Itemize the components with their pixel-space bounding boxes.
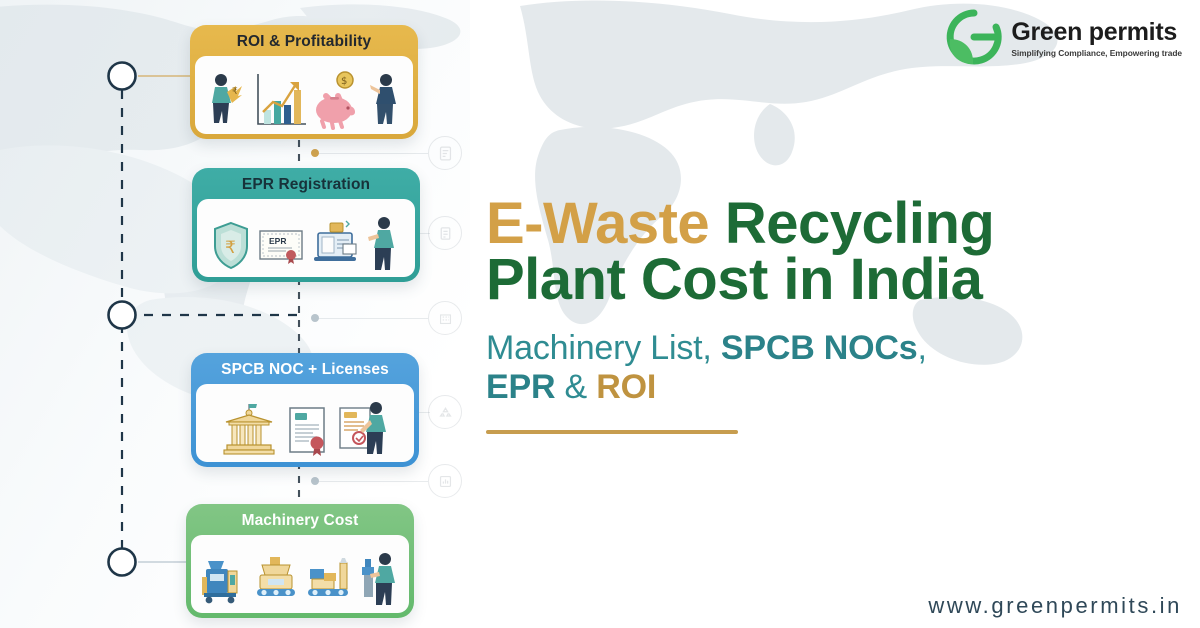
factory-grid-icon xyxy=(428,301,462,335)
svg-text:₹: ₹ xyxy=(232,87,238,97)
headline-gold-part: E-Waste xyxy=(486,191,709,256)
subtitle-ampersand: & xyxy=(555,368,596,406)
website-url[interactable]: www.greenpermits.in xyxy=(928,593,1182,619)
card-spcb-title: SPCB NOC + Licenses xyxy=(196,358,414,384)
subtitle-bold-roi: ROI xyxy=(596,368,656,406)
headline-green-part-2: Plant Cost in India xyxy=(486,247,982,312)
card-epr-illustration: ₹ EPR xyxy=(197,199,415,277)
title-underline-rule xyxy=(486,430,738,434)
laptop-documents-icon xyxy=(310,211,360,277)
card-machinery-title: Machinery Cost xyxy=(191,509,409,535)
hero-text-block: E-Waste Recycling Plant Cost in India Ma… xyxy=(486,196,1176,434)
shield-rupee-icon: ₹ xyxy=(210,211,252,277)
certificate-seal-icon xyxy=(282,396,332,462)
brand-text-wrap: Green permits Simplifying Compliance, Em… xyxy=(1011,16,1182,58)
person-with-form-icon xyxy=(364,211,402,277)
person-stamping-document-icon xyxy=(336,396,390,462)
svg-text:₹: ₹ xyxy=(225,238,236,258)
card-machinery-cost[interactable]: Machinery Cost xyxy=(186,504,414,618)
svg-text:EPR: EPR xyxy=(269,236,286,246)
card-epr-title: EPR Registration xyxy=(197,173,415,199)
subtitle-plain-1: Machinery List, xyxy=(486,329,721,367)
rail-dot-5 xyxy=(311,477,319,485)
card-roi-profitability[interactable]: ROI & Profitability ₹ $ xyxy=(190,25,418,139)
person-with-rupee-icon: ₹ xyxy=(204,68,248,134)
subtitle-bold-spcb: SPCB NOCs xyxy=(721,329,918,367)
contract-signature-icon xyxy=(428,136,462,170)
rail-dot-3 xyxy=(311,314,319,322)
epr-certificate-icon: EPR xyxy=(256,211,306,277)
person-pointing-icon xyxy=(364,68,404,134)
subtitle-bold-epr: EPR xyxy=(486,368,555,406)
headline-green-part-1: Recycling xyxy=(725,191,995,256)
card-roi-illustration: ₹ $ xyxy=(195,56,413,134)
brand-logo[interactable]: Green permits Simplifying Compliance, Em… xyxy=(943,6,1182,68)
card-spcb-noc-licenses[interactable]: SPCB NOC + Licenses xyxy=(191,353,419,467)
piggy-bank-coin-icon: $ xyxy=(312,68,360,134)
bar-chart-report-icon xyxy=(428,464,462,498)
government-building-icon xyxy=(220,396,278,462)
subtitle-comma: , xyxy=(917,329,926,367)
green-g-leaf-logo-icon xyxy=(943,6,1005,68)
brand-tagline: Simplifying Compliance, Empowering trade xyxy=(1011,48,1182,58)
document-stack-icon xyxy=(428,216,462,250)
shredder-machine-icon xyxy=(198,547,248,613)
recycle-cloud-icon xyxy=(428,395,462,429)
card-machinery-illustration xyxy=(191,535,409,613)
growth-bar-chart-icon xyxy=(252,68,308,134)
page-title: E-Waste Recycling Plant Cost in India xyxy=(486,196,1176,309)
rail-dot-1 xyxy=(311,149,319,157)
timeline-node-1 xyxy=(109,63,136,90)
brand-name: Green permits xyxy=(1011,20,1182,45)
worker-with-machine-icon xyxy=(358,547,402,613)
card-epr-registration[interactable]: EPR Registration ₹ EPR xyxy=(192,168,420,282)
page-subtitle: Machinery List, SPCB NOCs, EPR & ROI xyxy=(486,329,1176,409)
timeline-node-3 xyxy=(109,549,136,576)
conveyor-machine-icon xyxy=(252,547,300,613)
svg-text:$: $ xyxy=(341,76,347,87)
card-spcb-illustration xyxy=(196,384,414,462)
card-roi-title: ROI & Profitability xyxy=(195,30,413,56)
factory-conveyor-icon xyxy=(304,547,354,613)
timeline-node-2 xyxy=(109,302,136,329)
